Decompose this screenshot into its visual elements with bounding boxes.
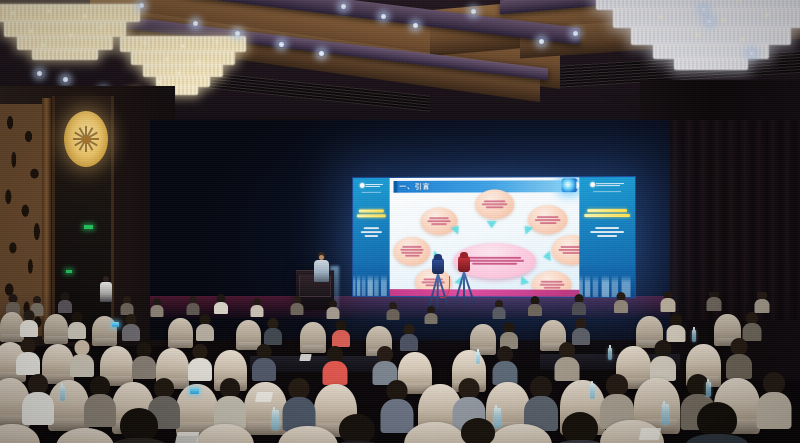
attendee bbox=[650, 340, 676, 380]
banner-author-text bbox=[590, 227, 624, 237]
attendee bbox=[424, 306, 437, 323]
attendee bbox=[290, 296, 303, 314]
ceiling-downlight bbox=[700, 6, 707, 13]
stage-curtain bbox=[648, 120, 800, 320]
attendee bbox=[552, 412, 608, 443]
attendee bbox=[20, 310, 38, 336]
attendee bbox=[492, 300, 505, 318]
video-camera-logo-icon bbox=[562, 178, 578, 192]
banner-author-text bbox=[361, 227, 382, 237]
attendee bbox=[554, 342, 579, 380]
attendee bbox=[742, 312, 761, 340]
ceiling-downlight bbox=[340, 3, 347, 10]
attendee bbox=[726, 338, 752, 378]
right-side-banner bbox=[579, 177, 635, 297]
radial-cycle-diagram bbox=[390, 191, 580, 297]
handout-paper bbox=[175, 432, 200, 443]
diagram-bubble bbox=[475, 189, 514, 219]
exit-sign bbox=[66, 270, 72, 273]
phone-screen bbox=[112, 322, 119, 327]
attendee bbox=[264, 318, 282, 344]
diagram-bubble bbox=[394, 237, 431, 266]
ceiling-downlight bbox=[36, 70, 43, 77]
attendee bbox=[132, 342, 156, 378]
attendee bbox=[572, 294, 586, 314]
attendee bbox=[58, 292, 72, 312]
banquet-chair bbox=[48, 380, 89, 431]
attendee bbox=[250, 298, 263, 316]
flower-medallion-light-icon bbox=[64, 111, 108, 167]
attendee bbox=[214, 294, 228, 313]
ceiling-downlight bbox=[470, 8, 477, 15]
attendee bbox=[686, 402, 748, 443]
ceiling-downlight bbox=[62, 76, 69, 83]
main-led-wall: 一、引言 bbox=[352, 176, 636, 298]
attendee bbox=[186, 296, 199, 314]
attendee bbox=[150, 298, 163, 316]
attendee bbox=[68, 312, 86, 338]
attendee bbox=[110, 408, 168, 443]
attendee bbox=[660, 292, 675, 311]
attendee bbox=[122, 314, 140, 340]
attendee bbox=[492, 346, 517, 384]
banner-title-text bbox=[584, 209, 630, 217]
ceiling-downlight bbox=[234, 30, 241, 37]
water-bottle bbox=[662, 404, 669, 425]
attendee bbox=[6, 294, 20, 314]
banquet-chair bbox=[244, 382, 287, 435]
handout-paper bbox=[255, 392, 273, 402]
attendee bbox=[372, 346, 397, 384]
chandelier-left bbox=[0, 4, 140, 76]
ceiling-downlight bbox=[538, 38, 545, 45]
attendee bbox=[706, 292, 721, 310]
water-bottle bbox=[272, 410, 279, 430]
attendee bbox=[666, 314, 685, 341]
attendee bbox=[330, 414, 384, 443]
attendee bbox=[332, 320, 350, 346]
ceiling-downlight bbox=[318, 50, 325, 57]
exit-sign bbox=[84, 225, 93, 229]
ceiling-downlight bbox=[572, 30, 579, 37]
organization-logo-icon bbox=[590, 182, 624, 187]
attendee bbox=[70, 340, 94, 376]
diagram-arrow-icon bbox=[487, 221, 497, 228]
conference-hall-photo: 一、引言 bbox=[0, 0, 800, 443]
ceiling-downlight bbox=[748, 50, 755, 57]
banquet-chair bbox=[44, 314, 68, 344]
attendee bbox=[528, 296, 542, 315]
attendee bbox=[120, 296, 133, 314]
attendee bbox=[380, 380, 413, 432]
presentation-slide: 一、引言 bbox=[390, 177, 580, 297]
water-bottle bbox=[608, 348, 612, 360]
ceiling-downlight bbox=[138, 2, 145, 9]
water-bottle bbox=[60, 386, 65, 401]
banquet-chair bbox=[0, 424, 40, 443]
attendee bbox=[322, 346, 347, 384]
water-bottle bbox=[590, 384, 595, 399]
left-side-banner bbox=[353, 178, 390, 296]
attendee bbox=[252, 344, 276, 380]
water-bottle bbox=[494, 408, 501, 428]
water-bottle bbox=[692, 330, 696, 342]
attendee bbox=[614, 292, 628, 312]
attendee bbox=[22, 374, 54, 424]
handout-paper bbox=[639, 428, 662, 440]
handout-paper bbox=[299, 354, 311, 361]
attendee bbox=[188, 344, 212, 380]
attendee bbox=[326, 300, 339, 318]
attendee bbox=[196, 314, 214, 340]
water-bottle bbox=[706, 382, 711, 397]
diagram-bubble bbox=[421, 207, 458, 235]
attendee bbox=[16, 338, 40, 374]
attendee bbox=[282, 378, 315, 430]
diagram-arrow-icon bbox=[517, 276, 529, 288]
diagram-arrow-icon bbox=[451, 223, 463, 235]
banquet-chair bbox=[92, 316, 117, 346]
ceiling-downlight bbox=[192, 20, 199, 27]
diagram-bubble bbox=[552, 235, 580, 265]
diagram-bubble bbox=[528, 205, 567, 234]
diagram-arrow-icon bbox=[543, 251, 551, 262]
ceiling-downlight bbox=[380, 13, 387, 20]
ceiling-downlight bbox=[412, 22, 419, 29]
ceiling-downlight bbox=[706, 18, 713, 25]
attendee bbox=[400, 324, 418, 350]
phone-screen bbox=[190, 388, 199, 394]
chandelier-right bbox=[596, 0, 800, 82]
presenter bbox=[314, 252, 329, 282]
banner-skyline-graphic bbox=[353, 263, 390, 296]
organization-logo-icon bbox=[360, 183, 383, 188]
attendee bbox=[386, 302, 399, 319]
attendee bbox=[572, 318, 590, 344]
attendee bbox=[756, 372, 791, 428]
attendee bbox=[500, 322, 518, 348]
slide-title: 一、引言 bbox=[399, 183, 430, 190]
banner-title-text bbox=[357, 209, 386, 217]
attendee bbox=[754, 292, 769, 312]
audience-seating bbox=[0, 292, 800, 443]
attendee bbox=[214, 378, 246, 428]
ceiling-downlight bbox=[278, 41, 285, 48]
water-bottle bbox=[476, 352, 480, 364]
